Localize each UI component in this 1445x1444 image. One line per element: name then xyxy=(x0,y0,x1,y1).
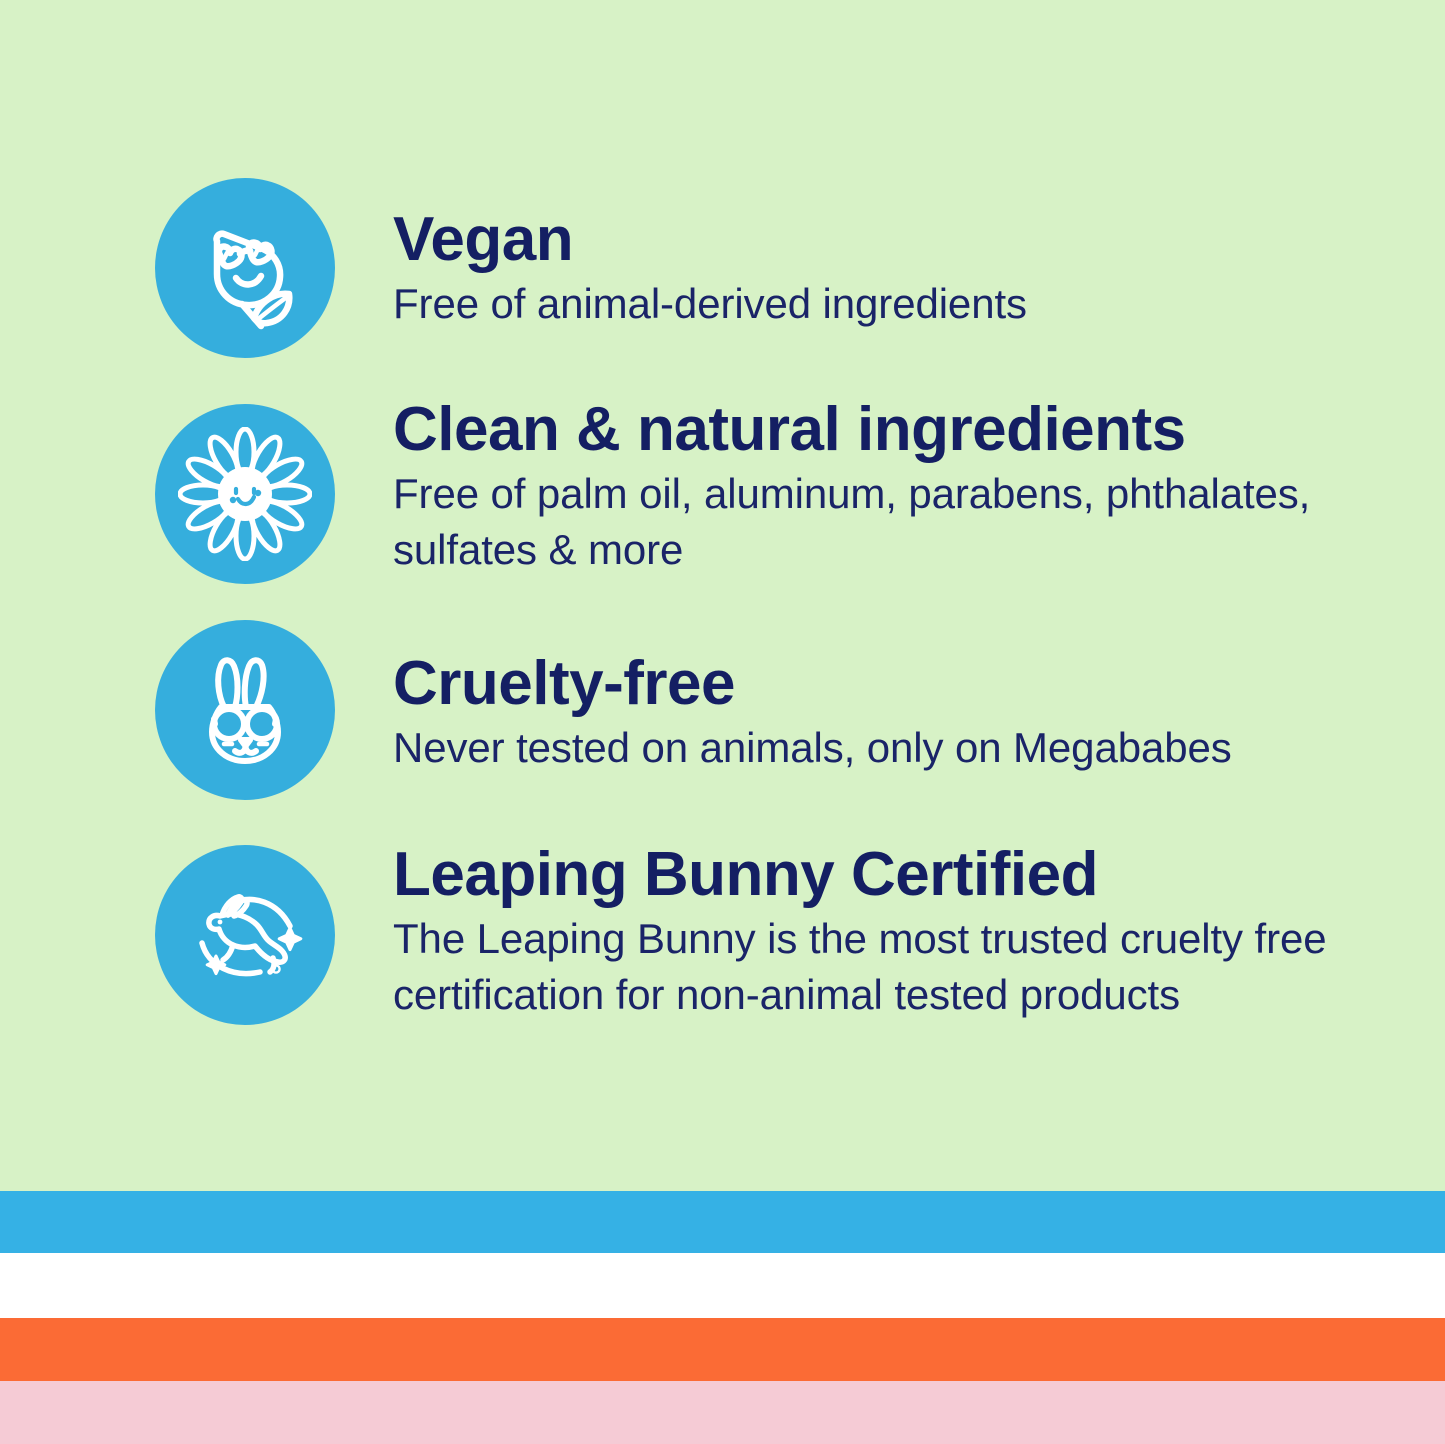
orange-band xyxy=(0,1318,1445,1381)
pink-band xyxy=(0,1381,1445,1444)
leaf-face-heart-sunglasses-icon xyxy=(155,178,335,358)
benefit-text-block: Leaping Bunny Certified The Leaping Bunn… xyxy=(393,843,1403,1023)
benefit-text-block: Cruelty-free Never tested on animals, on… xyxy=(393,652,1403,776)
white-band xyxy=(0,1253,1445,1318)
benefit-description: Free of animal-derived ingredients xyxy=(393,272,1403,332)
benefit-text-block: Clean & natural ingredients Free of palm… xyxy=(393,398,1403,578)
benefit-title: Clean & natural ingredients xyxy=(393,398,1403,462)
benefit-title: Cruelty-free xyxy=(393,652,1403,716)
product-benefits-panel: Vegan Free of animal-derived ingredients xyxy=(0,0,1445,1444)
benefit-text-block: Vegan Free of animal-derived ingredients xyxy=(393,208,1403,332)
benefit-description: The Leaping Bunny is the most trusted cr… xyxy=(393,907,1403,1023)
benefit-description: Never tested on animals, only on Megabab… xyxy=(393,716,1403,776)
benefit-title: Leaping Bunny Certified xyxy=(393,843,1403,907)
benefit-description: Free of palm oil, aluminum, parabens, ph… xyxy=(393,462,1403,578)
daisy-flower-smiling-icon xyxy=(155,404,335,584)
bunny-face-sunglasses-icon xyxy=(155,620,335,800)
benefit-title: Vegan xyxy=(393,208,1403,272)
leaping-bunny-logo-icon xyxy=(155,845,335,1025)
blue-band xyxy=(0,1191,1445,1253)
